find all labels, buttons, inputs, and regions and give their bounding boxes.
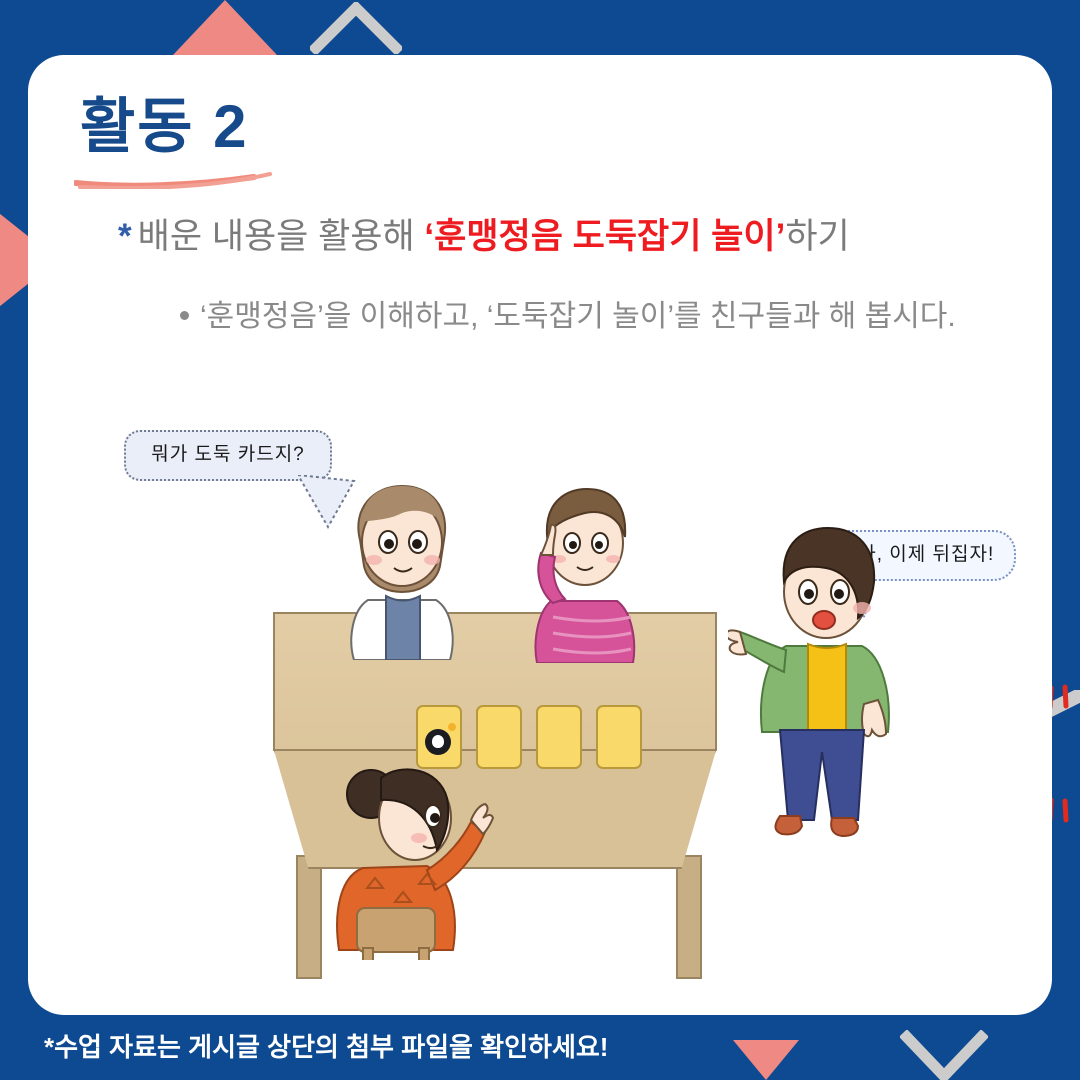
speech-bubble-girl-overalls: 뭐가 도둑 카드지? — [124, 430, 332, 481]
bomb-icon — [425, 729, 451, 755]
table-leg-left — [296, 855, 322, 979]
heading-highlight: ‘훈맹정음 도둑잡기 놀이’ — [424, 217, 785, 256]
character-boy-green — [728, 520, 918, 850]
character-boy-pink — [523, 483, 643, 663]
character-girl-overalls — [338, 480, 468, 660]
slide-root: 활동 2 *배운 내용을 활용해 ‘훈맹정음 도둑잡기 놀이’하기 ‘훈맹정음’… — [0, 0, 1080, 1080]
illustration: 뭐가 도둑 카드지? 좋아, 이제 뒤집자! 이 카드가 도둑 카드네! — [28, 375, 1052, 975]
bullet-line: ‘훈맹정음’을 이해하고, ‘도둑잡기 놀이’를 친구들과 해 봅시다. — [180, 291, 956, 335]
heading-before: 배운 내용을 활용해 — [138, 217, 425, 256]
table-leg-right — [676, 855, 702, 979]
chevron-gray-bottom-icon — [900, 1030, 988, 1080]
game-card-3[interactable] — [536, 705, 582, 769]
footer-note: *수업 자료는 게시글 상단의 첨부 파일을 확인하세요! — [44, 1027, 608, 1064]
character-girl-bun — [323, 760, 498, 960]
page-title-text: 활동 2 — [80, 97, 420, 157]
bullet-text: ‘훈맹정음’을 이해하고, ‘도둑잡기 놀이’를 친구들과 해 봅시다. — [200, 300, 956, 333]
title-underline-icon — [74, 171, 289, 189]
bullet-dot-icon — [180, 311, 189, 320]
chevron-gray-top-icon — [310, 2, 402, 54]
triangle-salmon-bottom-icon — [733, 1040, 799, 1080]
bomb-fuse-icon — [448, 723, 456, 731]
heading-star: * — [118, 217, 132, 256]
triangle-salmon-top-icon — [173, 0, 277, 55]
heading-line: *배운 내용을 활용해 ‘훈맹정음 도둑잡기 놀이’하기 — [118, 215, 850, 259]
heading-after: 하기 — [785, 217, 849, 256]
game-card-4[interactable] — [596, 705, 642, 769]
speech-bubble-text: 뭐가 도둑 카드지? — [151, 444, 305, 465]
page-title: 활동 2 — [80, 97, 420, 207]
content-card: 활동 2 *배운 내용을 활용해 ‘훈맹정음 도둑잡기 놀이’하기 ‘훈맹정음’… — [28, 55, 1052, 1015]
